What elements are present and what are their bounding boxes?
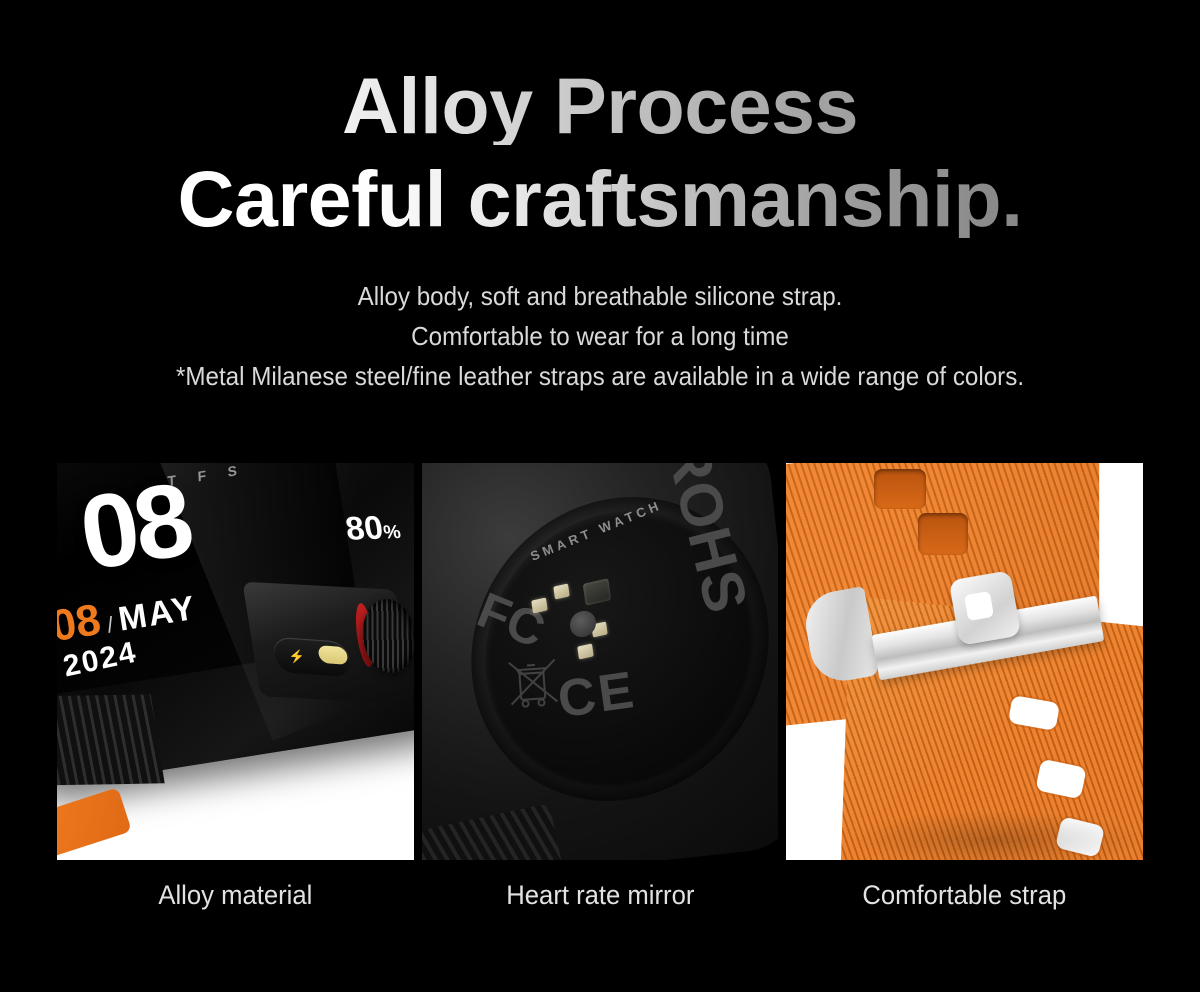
lightning-icon: ⚡ [288,649,307,666]
subtitle-line-1: Alloy body, soft and breathable silicone… [42,276,1158,316]
strap-accent-bottom [57,787,132,859]
strap-hole-2 [918,513,968,555]
product-feature-page: Alloy Process Careful craftsmanship. All… [0,0,1200,992]
caption-alloy-material: Alloy material [66,880,405,911]
subtitle-line-3: *Metal Milanese steel/fine leather strap… [42,356,1158,396]
strap-hole-1 [874,469,926,509]
headline-block: Alloy Process Careful craftsmanship. [0,0,1200,238]
caption-row: Alloy material Heart rate mirror Comfort… [57,880,1143,911]
subtitle-block: Alloy body, soft and breathable silicone… [0,276,1200,396]
photo-panel-heart-rate-mirror: SMART WATCH ROHS FC CE [422,463,779,860]
watch-date-separator: / [105,612,115,639]
watch-lug-ridges [57,694,165,785]
photo-panel-comfortable-strap [786,463,1143,860]
subtitle-line-2: Comfortable to wear for a long time [42,316,1158,356]
ce-mark: CE [554,660,640,730]
photo-panel-alloy-material: T F S 08 08 / MAY 2024 80% ⚡ [57,463,414,860]
caption-comfortable-strap: Comfortable strap [795,880,1134,911]
product-photo-row: T F S 08 08 / MAY 2024 80% ⚡ SM [57,463,1143,860]
buckle-prong-slot [964,591,994,621]
strap-shadow [846,810,1143,860]
weee-bin-icon [502,649,566,713]
headline-line-2: Careful craftsmanship. [0,159,1200,238]
headline-line-1: Alloy Process [0,66,1200,145]
caption-heart-rate-mirror: Heart rate mirror [431,880,770,911]
